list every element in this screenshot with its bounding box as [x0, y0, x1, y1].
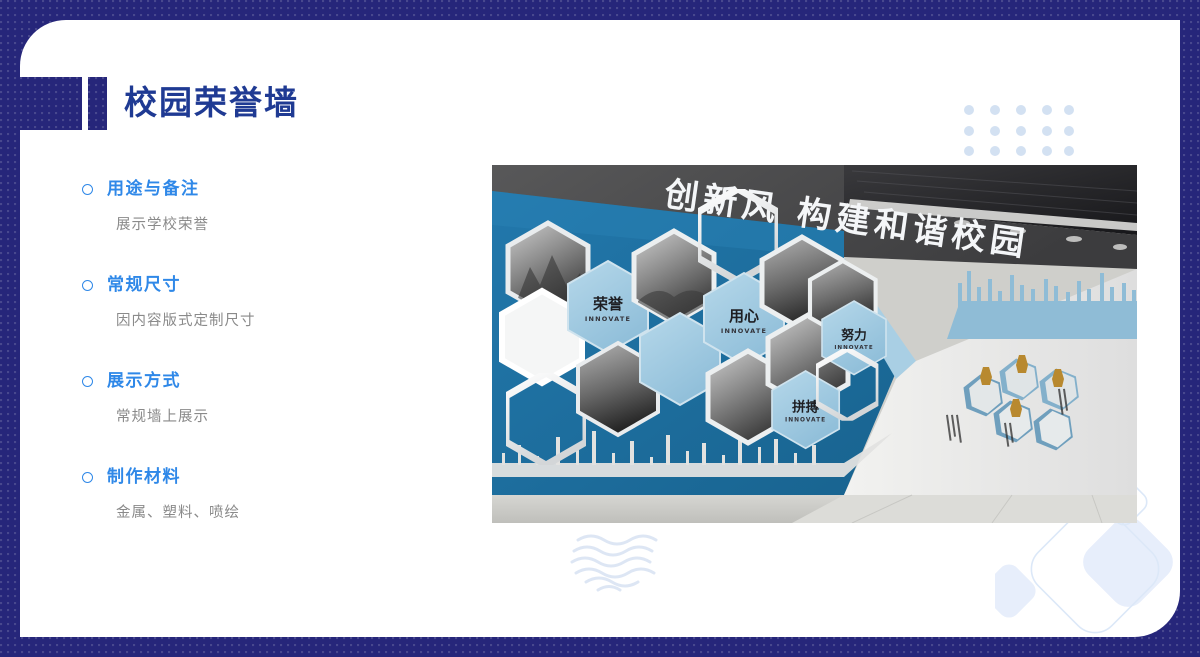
wave-decoration [568, 532, 672, 594]
spec-label: 展示方式 [107, 370, 181, 392]
spec-label: 常规尺寸 [107, 274, 181, 296]
title-accent-bar [88, 77, 107, 130]
hex-label-cn: 努力 [841, 327, 867, 343]
hex-label-cn: 用心 [729, 307, 759, 325]
hex-label-en: INNOVATE [585, 315, 631, 323]
hex-label-cn: 拼搏 [792, 398, 819, 415]
circle-bullet-icon [82, 184, 93, 195]
spec-item-display: 展示方式 常规墙上展示 [82, 370, 442, 427]
spec-value: 因内容版式定制尺寸 [116, 311, 442, 331]
spec-item-usage: 用途与备注 展示学校荣誉 [82, 178, 442, 235]
product-photo: 创新风 构建和谐校园 [492, 165, 1137, 523]
hex-label-en: INNOVATE [785, 417, 826, 423]
spec-list: 用途与备注 展示学校荣誉 常规尺寸 因内容版式定制尺寸 展示方式 常规墙上展示 [82, 178, 442, 523]
hex-label-cn: 荣誉 [592, 295, 624, 313]
spec-value: 展示学校荣誉 [116, 215, 442, 235]
spec-item-material: 制作材料 金属、塑料、喷绘 [82, 466, 442, 523]
dot-grid-decoration [963, 104, 1075, 157]
spec-head: 常规尺寸 [82, 274, 442, 296]
spec-item-size: 常规尺寸 因内容版式定制尺寸 [82, 274, 442, 331]
spec-label: 制作材料 [107, 466, 181, 488]
title-accent-block [20, 77, 82, 130]
circle-bullet-icon [82, 472, 93, 483]
page-title: 校园荣誉墙 [124, 80, 299, 126]
spec-head: 用途与备注 [82, 178, 442, 200]
circle-bullet-icon [82, 376, 93, 387]
hex-label-en: INNOVATE [721, 327, 767, 335]
spec-label: 用途与备注 [107, 178, 200, 200]
slide-page: 校园荣誉墙 用途与备注 展示学校荣誉 常规尺寸 因内容版式定制尺寸 [0, 0, 1200, 657]
spec-value: 常规墙上展示 [116, 407, 442, 427]
spec-value: 金属、塑料、喷绘 [116, 503, 442, 523]
spec-head: 制作材料 [82, 466, 442, 488]
circle-bullet-icon [82, 280, 93, 291]
content-card: 校园荣誉墙 用途与备注 展示学校荣誉 常规尺寸 因内容版式定制尺寸 [20, 20, 1180, 637]
honour-wall-illustration: 创新风 构建和谐校园 [492, 165, 1137, 523]
spec-head: 展示方式 [82, 370, 442, 392]
